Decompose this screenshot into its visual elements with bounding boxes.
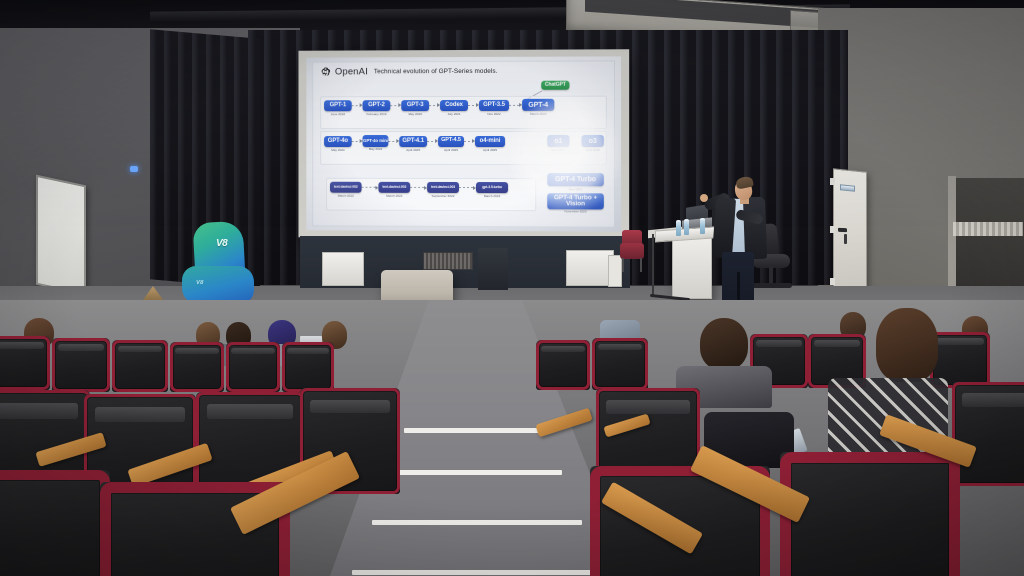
auditorium-seat[interactable] [170,342,224,392]
stage-equipment-box [478,248,508,290]
beanbag-seat [182,266,254,304]
node-gpt-3: GPT-3 May 2020 [401,100,429,111]
presenter-jacket-right [743,197,767,260]
whiteboard [36,175,86,296]
water-bottle-3[interactable] [700,218,705,234]
node-gpt-4-turbo: GPT-4 Turbo Nov 2023 [547,173,604,186]
door-lock [844,234,847,244]
auditorium-seat[interactable] [0,336,50,390]
node-text-davinci-003-b: text-davinci-003 September 2022 [427,182,459,193]
node-gpt-4o-mini: GPT-4o mini May 2024 [363,135,389,147]
auditorium-seat[interactable] [226,342,280,392]
beanbag-logo: V8 [216,238,227,249]
table-leg-left [652,234,654,296]
diagram-row-3: text-davinci-002 March 2022 text-davinci… [330,182,508,193]
openai-wordmark: OpenAI [335,66,368,77]
aisle-step-1 [404,428,544,433]
projection-screen: OpenAI Technical evolution of GPT-Series… [298,49,629,239]
auditorium-seat[interactable] [112,340,168,392]
node-o1: o1 Dec 2024 [547,135,569,147]
openai-logo [320,66,331,77]
audience-head [700,318,748,370]
aisle-step-4 [352,570,602,575]
auditorium-seat[interactable] [536,340,590,390]
node-text-davinci-002: text-davinci-002 March 2022 [330,182,362,193]
auditorium-seat[interactable] [52,338,110,392]
node-gpt-4o: GPT-4o May 2024 [324,136,352,147]
node-o3: o3 April 2025 [582,135,604,147]
stage-wall-vent [423,252,473,270]
node-gpt-2: GPT-2 February 2019 [363,100,391,111]
auditorium-seat[interactable] [282,342,334,392]
presenter-hand [700,194,708,202]
node-gpt-35-turbo: gpt-3.5-turbo March 2023 [476,182,508,193]
node-gpt-4-1: GPT-4.1 April 2025 [399,136,427,147]
projection-surface: OpenAI Technical evolution of GPT-Series… [306,56,621,231]
presenter-desk [672,237,712,299]
node-o4-mini: o4-mini April 2025 [475,135,505,146]
water-bottle-2[interactable] [684,219,689,235]
beanbag-chair[interactable]: V8 V8 [182,222,254,302]
auditorium-seat[interactable] [780,452,960,576]
radiator [953,222,1023,236]
door-hinge-mid [830,226,835,233]
diagram-row-2: GPT-4o May 2024 GPT-4o mini May 2024 GPT… [324,135,505,147]
auditorium-seat[interactable] [592,338,648,390]
audience-head [876,308,938,382]
node-gpt-4: GPT-4 March 2023 [522,99,554,111]
door-handle[interactable] [838,228,847,232]
presentation-slide: OpenAI Technical evolution of GPT-Series… [312,60,615,227]
presenter-jacket-left [712,197,736,258]
aisle-step-2 [390,470,562,475]
auditorium-seat[interactable] [0,470,110,576]
slide-title: Technical evolution of GPT-Series models… [374,68,498,75]
door-hinge-bottom [830,278,835,285]
node-gpt-4-5: GPT-4.5 April 2025 [438,135,464,146]
auditorium-seat[interactable] [952,382,1024,486]
node-gpt-3-5: GPT-3.5 Nov 2022 [479,99,509,110]
status-led-indicator [130,166,138,172]
water-bottle-1[interactable] [676,220,681,236]
stage-red-chair[interactable] [620,243,644,259]
diagram-row-1: GPT-1 June 2018 GPT-2 February 2019 GPT-… [324,99,554,111]
stage-red-chair-legs [622,258,642,272]
stage-panel-right-small [608,255,622,287]
lecture-hall-scene: OpenAI Technical evolution of GPT-Series… [0,0,1024,576]
beanbag-logo-secondary: V8 [196,280,203,286]
node-codex: Codex July 2021 [440,99,468,110]
node-gpt-4-turbo-vision: GPT-4 Turbo + Vision November 2023 [547,193,604,209]
node-text-davinci-003-a: text-davinci-003 March 2022 [378,182,410,193]
node-gpt-1: GPT-1 June 2018 [324,100,352,111]
stage-panel-right [566,250,614,286]
stage-panel-left [322,252,364,286]
aisle-step-3 [372,520,582,525]
office-chair-base [752,283,792,288]
door-hinge-top [830,178,835,185]
slide-header: OpenAI Technical evolution of GPT-Series… [313,61,614,77]
gpt-evolution-diagram: ChatGPT GPT-1 June 2018 GP [320,83,607,220]
